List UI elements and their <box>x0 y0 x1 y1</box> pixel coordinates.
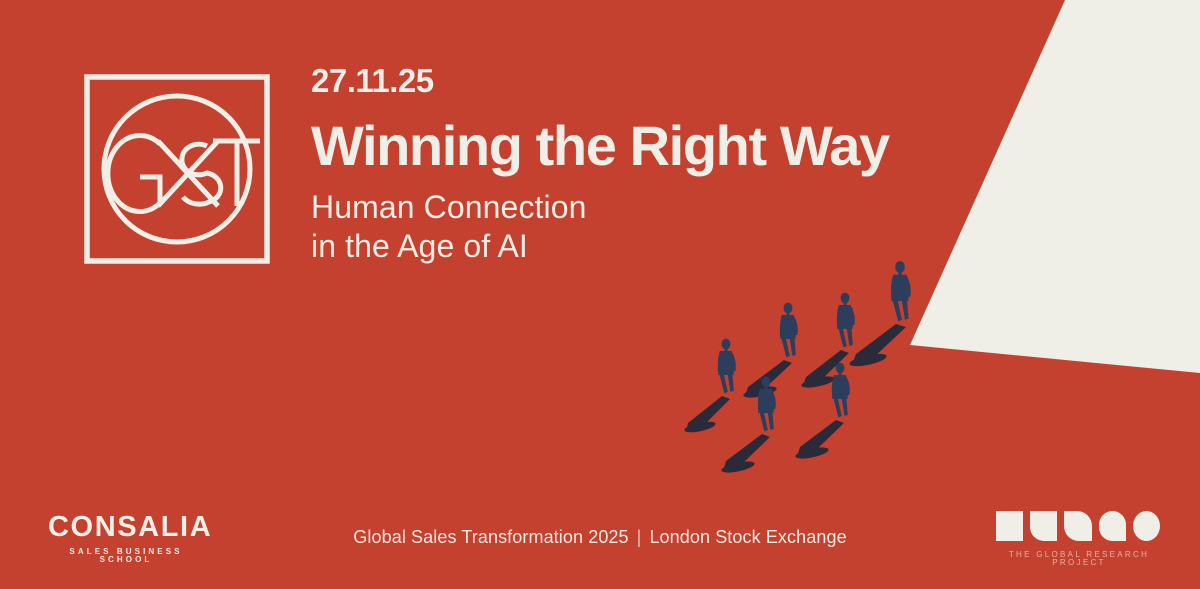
grp-tagline: THE GLOBAL RESEARCH PROJECT <box>996 551 1162 567</box>
gst-logo-mark <box>84 74 270 264</box>
consalia-wordmark: CONSALIA <box>48 513 278 542</box>
event-subtitle-line-2: in the Age of AI <box>311 227 951 266</box>
event-subtitle: Human Connection in the Age of AI <box>311 188 951 266</box>
footer-separator: | <box>629 528 650 546</box>
event-date: 27.11.25 <box>311 64 951 97</box>
event-banner: 27.11.25 Winning the Right Way Human Con… <box>0 0 1200 589</box>
consalia-logo: CONSALIA SALES BUSINESS SCHOOL <box>48 513 278 564</box>
figure-bodies <box>718 261 911 431</box>
global-research-project-logo: THE GLOBAL RESEARCH PROJECT <box>996 511 1160 567</box>
grp-shape-square-icon <box>996 511 1023 541</box>
page-title: Winning the Right Way <box>311 117 951 174</box>
grp-shape-circle-icon <box>1133 511 1160 541</box>
grp-shape-rounded-1-icon <box>1030 511 1057 541</box>
consalia-tagline: SALES BUSINESS SCHOOL <box>50 548 202 564</box>
grp-shape-row <box>996 511 1160 541</box>
header-text-block: 27.11.25 Winning the Right Way Human Con… <box>311 64 951 266</box>
event-subtitle-line-1: Human Connection <box>311 188 951 227</box>
grp-shape-rounded-3-icon <box>1099 511 1126 541</box>
footer-venue: London Stock Exchange <box>649 527 846 547</box>
figure-shadows <box>683 324 906 475</box>
footer-event-name: Global Sales Transformation 2025 <box>353 527 628 547</box>
grp-shape-rounded-2-icon <box>1064 511 1091 541</box>
